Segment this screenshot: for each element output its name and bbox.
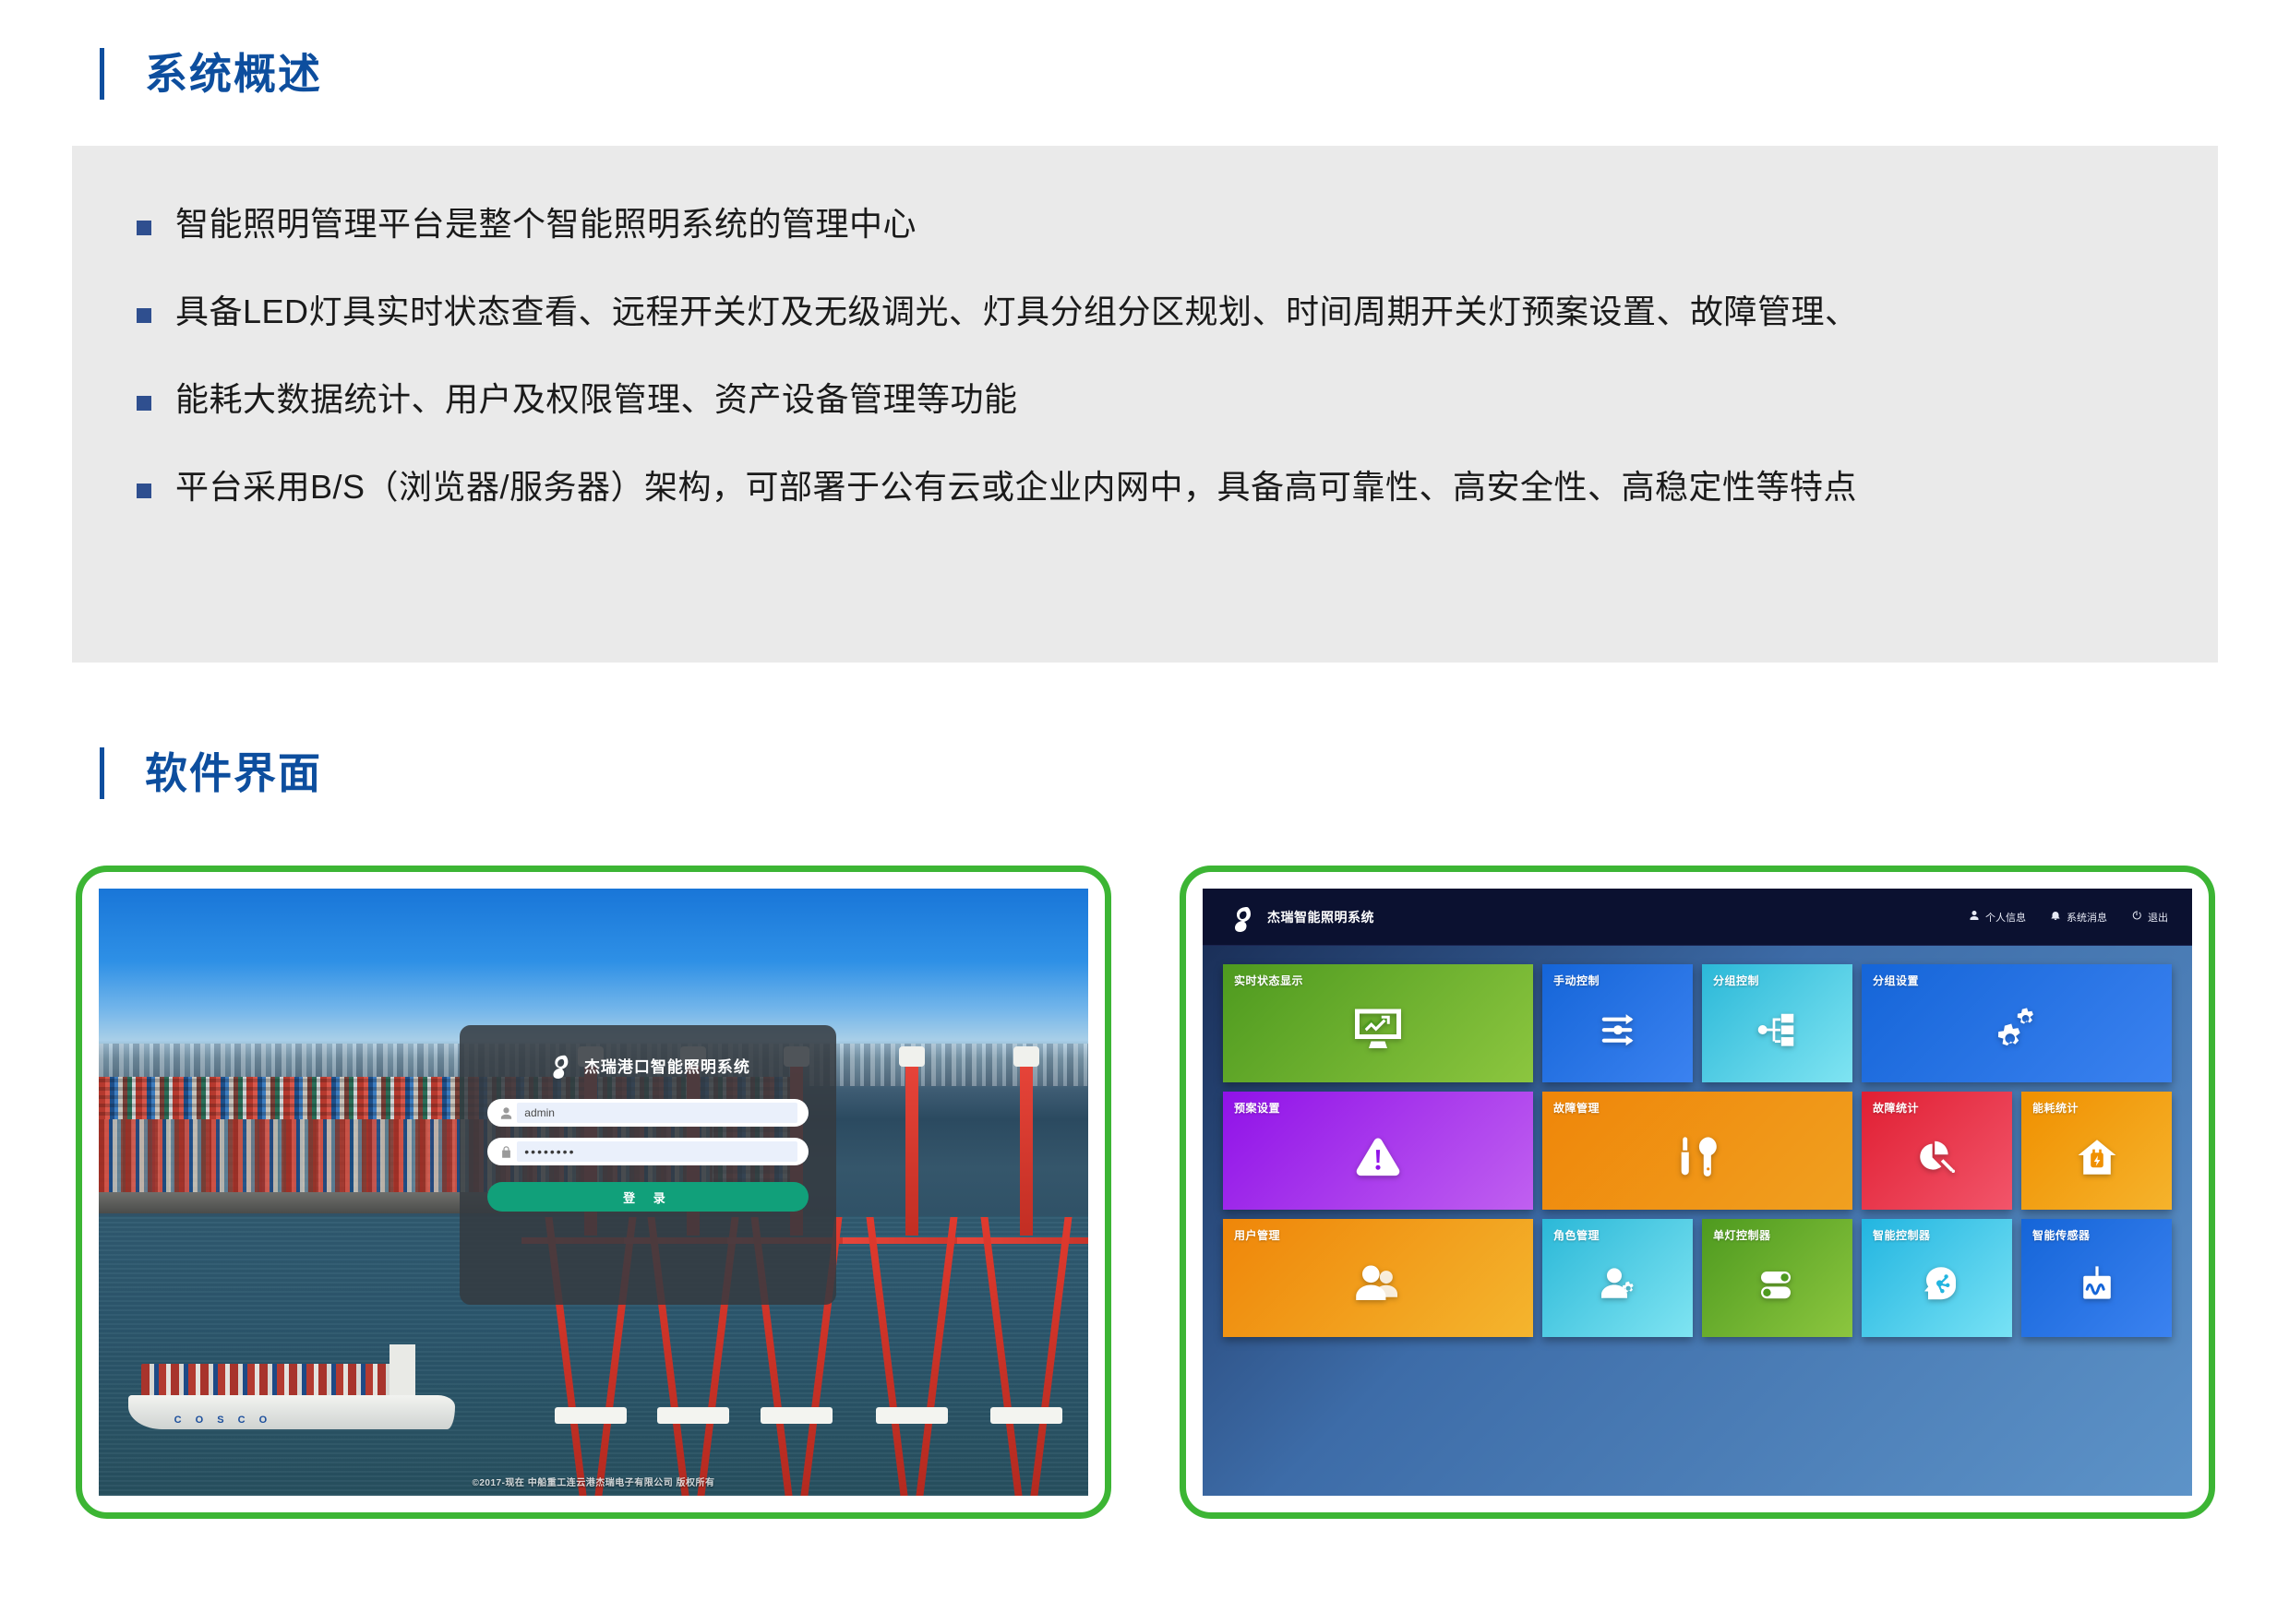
bullet-text: 智能照明管理平台是整个智能照明系统的管理中心 bbox=[175, 203, 917, 245]
user-icon bbox=[1969, 910, 1980, 924]
bullet-square-icon bbox=[137, 484, 151, 498]
dashboard-header: 杰瑞智能照明系统 个人信息 系统消息 bbox=[1203, 889, 2192, 946]
tile-energy-statistics[interactable]: 能耗统计 bbox=[2021, 1092, 2172, 1210]
heading-accent-bar bbox=[100, 48, 104, 100]
toggles-icon bbox=[1702, 1219, 1852, 1337]
tile-group-control[interactable]: 分组控制 bbox=[1702, 964, 1852, 1082]
gears-icon bbox=[1862, 964, 2172, 1082]
tools-icon bbox=[1542, 1092, 1852, 1210]
slide-page: 系统概述 智能照明管理平台是整个智能照明系统的管理中心 具备LED灯具实时状态查… bbox=[0, 0, 2289, 1624]
crane-crossbeam bbox=[990, 1407, 1062, 1424]
dashboard-actions: 个人信息 系统消息 退出 bbox=[1969, 910, 2168, 925]
list-item: 具备LED灯具实时状态查看、远程开关灯及无级调光、灯具分组分区规划、时间周期开关… bbox=[137, 291, 2190, 332]
gantry-crane bbox=[870, 1046, 953, 1496]
brain-icon bbox=[1862, 1219, 2012, 1337]
heading-text: 系统概述 bbox=[145, 53, 322, 95]
ship-containers bbox=[141, 1364, 402, 1397]
copyright-footer: ©2017-现在 中船重工连云港杰瑞电子有限公司 版权所有 bbox=[99, 1475, 1088, 1488]
section-heading-software: 软件界面 bbox=[100, 747, 322, 799]
profile-action[interactable]: 个人信息 bbox=[1969, 910, 2026, 925]
heading-text: 软件界面 bbox=[145, 752, 322, 794]
crane-crossbeam bbox=[657, 1407, 729, 1424]
tile-smart-controller[interactable]: 智能控制器 bbox=[1862, 1219, 2012, 1337]
jerry-logo-icon bbox=[1227, 902, 1256, 932]
bullet-text: 平台采用B/S（浏览器/服务器）架构，可部署于公有云或企业内网中，具备高可靠性、… bbox=[175, 466, 1857, 507]
bullet-square-icon bbox=[137, 396, 151, 411]
crane-top bbox=[1013, 1046, 1039, 1067]
logout-action-label: 退出 bbox=[2148, 910, 2168, 925]
tile-plan-settings[interactable]: 预案设置 bbox=[1223, 1092, 1533, 1210]
dashboard-screenshot: 杰瑞智能照明系统 个人信息 系统消息 bbox=[1203, 889, 2192, 1496]
dashboard-body: 实时状态显示 手动控制 bbox=[1203, 946, 2192, 1496]
tile-smart-sensor[interactable]: 智能传感器 bbox=[2021, 1219, 2172, 1337]
tile-grid: 实时状态显示 手动控制 bbox=[1223, 964, 2172, 1477]
crane-crossbeam bbox=[555, 1407, 627, 1424]
lock-icon bbox=[495, 1140, 517, 1163]
ship-name-text: C O S C O bbox=[174, 1415, 273, 1426]
login-title: 杰瑞港口智能照明系统 bbox=[584, 1054, 750, 1077]
crane-crossbeam bbox=[761, 1407, 833, 1424]
bullet-square-icon bbox=[137, 221, 151, 235]
heading-accent-bar bbox=[100, 747, 104, 799]
gantry-crane bbox=[985, 1046, 1068, 1496]
tile-group-settings[interactable]: 分组设置 bbox=[1862, 964, 2172, 1082]
username-field[interactable]: admin bbox=[487, 1099, 808, 1127]
messages-action-label: 系统消息 bbox=[2067, 910, 2107, 925]
password-input[interactable]: •••••••• bbox=[517, 1141, 797, 1162]
username-input[interactable]: admin bbox=[517, 1103, 797, 1123]
overview-panel: 智能照明管理平台是整个智能照明系统的管理中心 具备LED灯具实时状态查看、远程开… bbox=[72, 146, 2218, 663]
crane-leg bbox=[1031, 1217, 1073, 1496]
dashboard-screenshot-frame: 杰瑞智能照明系统 个人信息 系统消息 bbox=[1180, 866, 2215, 1519]
sliders-icon bbox=[1542, 964, 1693, 1082]
bell-icon bbox=[2050, 910, 2061, 924]
user-icon bbox=[495, 1102, 517, 1124]
list-item: 平台采用B/S（浏览器/服务器）架构，可部署于公有云或企业内网中，具备高可靠性、… bbox=[137, 466, 2190, 507]
login-screenshot-frame: C O S C O bbox=[76, 866, 1111, 1519]
ship-bridge bbox=[389, 1344, 415, 1397]
login-card: 杰瑞港口智能照明系统 admin •••••••• 登 录 bbox=[460, 1025, 835, 1305]
list-item: 智能照明管理平台是整个智能照明系统的管理中心 bbox=[137, 203, 2190, 245]
container-ship: C O S C O bbox=[128, 1356, 455, 1429]
pie-search-icon bbox=[1862, 1092, 2012, 1210]
list-item: 能耗大数据统计、用户及权限管理、资产设备管理等功能 bbox=[137, 378, 2190, 420]
crane-tower bbox=[1020, 1056, 1033, 1236]
crane-tower bbox=[905, 1056, 918, 1236]
login-button[interactable]: 登 录 bbox=[487, 1182, 808, 1212]
ship-hull: C O S C O bbox=[128, 1395, 455, 1428]
crane-leg bbox=[981, 1217, 1023, 1496]
tile-fault-management[interactable]: 故障管理 bbox=[1542, 1092, 1852, 1210]
bullet-text: 能耗大数据统计、用户及权限管理、资产设备管理等功能 bbox=[175, 378, 1018, 420]
bullet-text: 具备LED灯具实时状态查看、远程开关灯及无级调光、灯具分组分区规划、时间周期开关… bbox=[175, 291, 1859, 332]
power-icon bbox=[2131, 910, 2142, 924]
user-gear-icon bbox=[1542, 1219, 1693, 1337]
house-plug-icon bbox=[2021, 1092, 2172, 1210]
sitemap-icon bbox=[1702, 964, 1852, 1082]
password-field[interactable]: •••••••• bbox=[487, 1138, 808, 1165]
bullet-square-icon bbox=[137, 308, 151, 323]
login-screenshot: C O S C O bbox=[99, 889, 1088, 1496]
logout-action[interactable]: 退出 bbox=[2131, 910, 2168, 925]
crane-top bbox=[899, 1046, 925, 1067]
dashboard-app: 杰瑞智能照明系统 个人信息 系统消息 bbox=[1203, 889, 2192, 1496]
tile-role-management[interactable]: 角色管理 bbox=[1542, 1219, 1693, 1337]
login-brand: 杰瑞港口智能照明系统 bbox=[487, 1051, 808, 1079]
dashboard-title: 杰瑞智能照明系统 bbox=[1267, 908, 1374, 926]
crane-leg bbox=[866, 1217, 907, 1496]
crane-crossbeam bbox=[876, 1407, 948, 1424]
tile-fault-statistics[interactable]: 故障统计 bbox=[1862, 1092, 2012, 1210]
jerry-logo-icon bbox=[545, 1051, 573, 1079]
tile-realtime-status[interactable]: 实时状态显示 bbox=[1223, 964, 1533, 1082]
bullet-list: 智能照明管理平台是整个智能照明系统的管理中心 具备LED灯具实时状态查看、远程开… bbox=[137, 203, 2190, 507]
warning-icon bbox=[1223, 1092, 1533, 1210]
tile-user-management[interactable]: 用户管理 bbox=[1223, 1219, 1533, 1337]
sensor-icon bbox=[2021, 1219, 2172, 1337]
tile-manual-control[interactable]: 手动控制 bbox=[1542, 964, 1693, 1082]
monitor-chart-icon bbox=[1223, 964, 1533, 1082]
messages-action[interactable]: 系统消息 bbox=[2050, 910, 2107, 925]
profile-action-label: 个人信息 bbox=[1985, 910, 2026, 925]
crane-leg bbox=[916, 1217, 957, 1496]
users-icon bbox=[1223, 1219, 1533, 1337]
tile-single-lamp-controller[interactable]: 单灯控制器 bbox=[1702, 1219, 1852, 1337]
section-heading-overview: 系统概述 bbox=[100, 48, 322, 100]
